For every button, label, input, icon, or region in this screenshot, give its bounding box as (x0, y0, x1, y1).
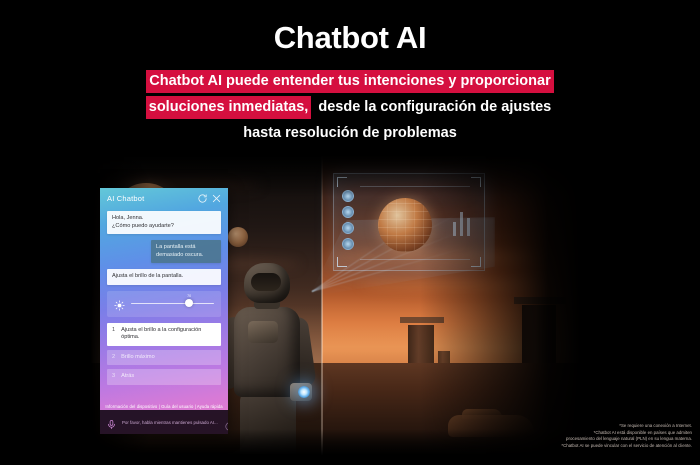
ai-chatbot-panel: AI Chatbot Hola, Jenna. ¿Cómo puedo ayud… (100, 188, 228, 434)
chat-bubble-user-request: La pantalla está demasiado oscura. (151, 240, 221, 263)
holo-corner-bl (337, 257, 347, 267)
brightness-value-label: 70 (187, 294, 191, 298)
page-root: Chatbot AI Chatbot AI puede entender tus… (0, 0, 700, 465)
subtitle-block: Chatbot AI puede entender tus intencione… (0, 68, 700, 146)
holo-nav-dot-3 (342, 222, 354, 234)
subtitle-plain-3: hasta resolución de problemas (240, 122, 460, 145)
chat-option-3[interactable]: 3 Atrás (107, 369, 221, 384)
brightness-slider-thumb[interactable] (185, 299, 193, 307)
planet-small (228, 227, 248, 247)
chat-bubble-bot-suggestion: Ajusta el brillo de la pantalla. (107, 269, 221, 285)
subtitle-line-3: hasta resolución de problemas (0, 120, 700, 146)
chatbot-message-list: Hola, Jenna. ¿Cómo puedo ayudarte? La pa… (100, 208, 228, 385)
chatbot-title: AI Chatbot (107, 194, 194, 203)
chatbot-header: AI Chatbot (100, 188, 228, 208)
subtitle-highlight-1: Chatbot AI puede entender tus intencione… (146, 70, 553, 93)
holo-nav-dot-2 (342, 206, 354, 218)
subtitle-plain-2: desde la configuración de ajustes (311, 96, 554, 119)
chat-option-3-number: 3 (112, 373, 115, 380)
page-title: Chatbot AI (0, 20, 700, 56)
refresh-icon[interactable] (197, 193, 208, 204)
brightness-icon (114, 298, 125, 309)
legal-disclaimer: *Se requiere una conexión a Internet. *C… (462, 423, 692, 449)
chat-option-2-label: Brillo máximo (121, 354, 155, 361)
brightness-slider-track[interactable]: 70 (131, 303, 214, 305)
question-mark-icon[interactable] (225, 418, 228, 427)
astronaut-chest-pack (248, 321, 278, 343)
chat-option-1-label: Ajusta el brillo a la configuración ópti… (121, 327, 216, 342)
astronaut-figure (218, 255, 318, 455)
close-icon[interactable] (211, 193, 222, 204)
chat-option-2-number: 2 (112, 354, 115, 361)
chatbot-footer-links[interactable]: Información del dispositivo | Guía del u… (100, 404, 228, 409)
holo-nav-dot-4 (342, 238, 354, 250)
chat-option-3-label: Atrás (121, 373, 134, 380)
chat-option-2[interactable]: 2 Brillo máximo (107, 350, 221, 365)
subtitle-highlight-2: soluciones inmediatas, (146, 96, 312, 119)
subtitle-line-1: Chatbot AI puede entender tus intencione… (0, 68, 700, 94)
subtitle-line-2: soluciones inmediatas, desde la configur… (0, 94, 700, 120)
scene-fade-right (420, 155, 580, 455)
image-split-seam (321, 155, 323, 455)
projector-light-emitter (298, 386, 310, 398)
chat-option-1-number: 1 (112, 327, 115, 334)
astronaut-visor (251, 273, 281, 291)
chat-option-1[interactable]: 1 Ajusta el brillo a la configuración óp… (107, 323, 221, 346)
chatbot-input-bar[interactable]: Por favor, habla mientras mantienes puls… (100, 410, 228, 434)
microphone-icon[interactable] (106, 417, 117, 428)
disclaimer-line-4: *Chatbot AI se puede vincular con el ser… (462, 443, 692, 449)
brightness-slider-card: 70 (107, 291, 221, 317)
chat-bubble-bot-greeting: Hola, Jenna. ¿Cómo puedo ayudarte? (107, 211, 221, 234)
chatbot-input-placeholder[interactable]: Por favor, habla mientras mantienes puls… (122, 420, 220, 425)
